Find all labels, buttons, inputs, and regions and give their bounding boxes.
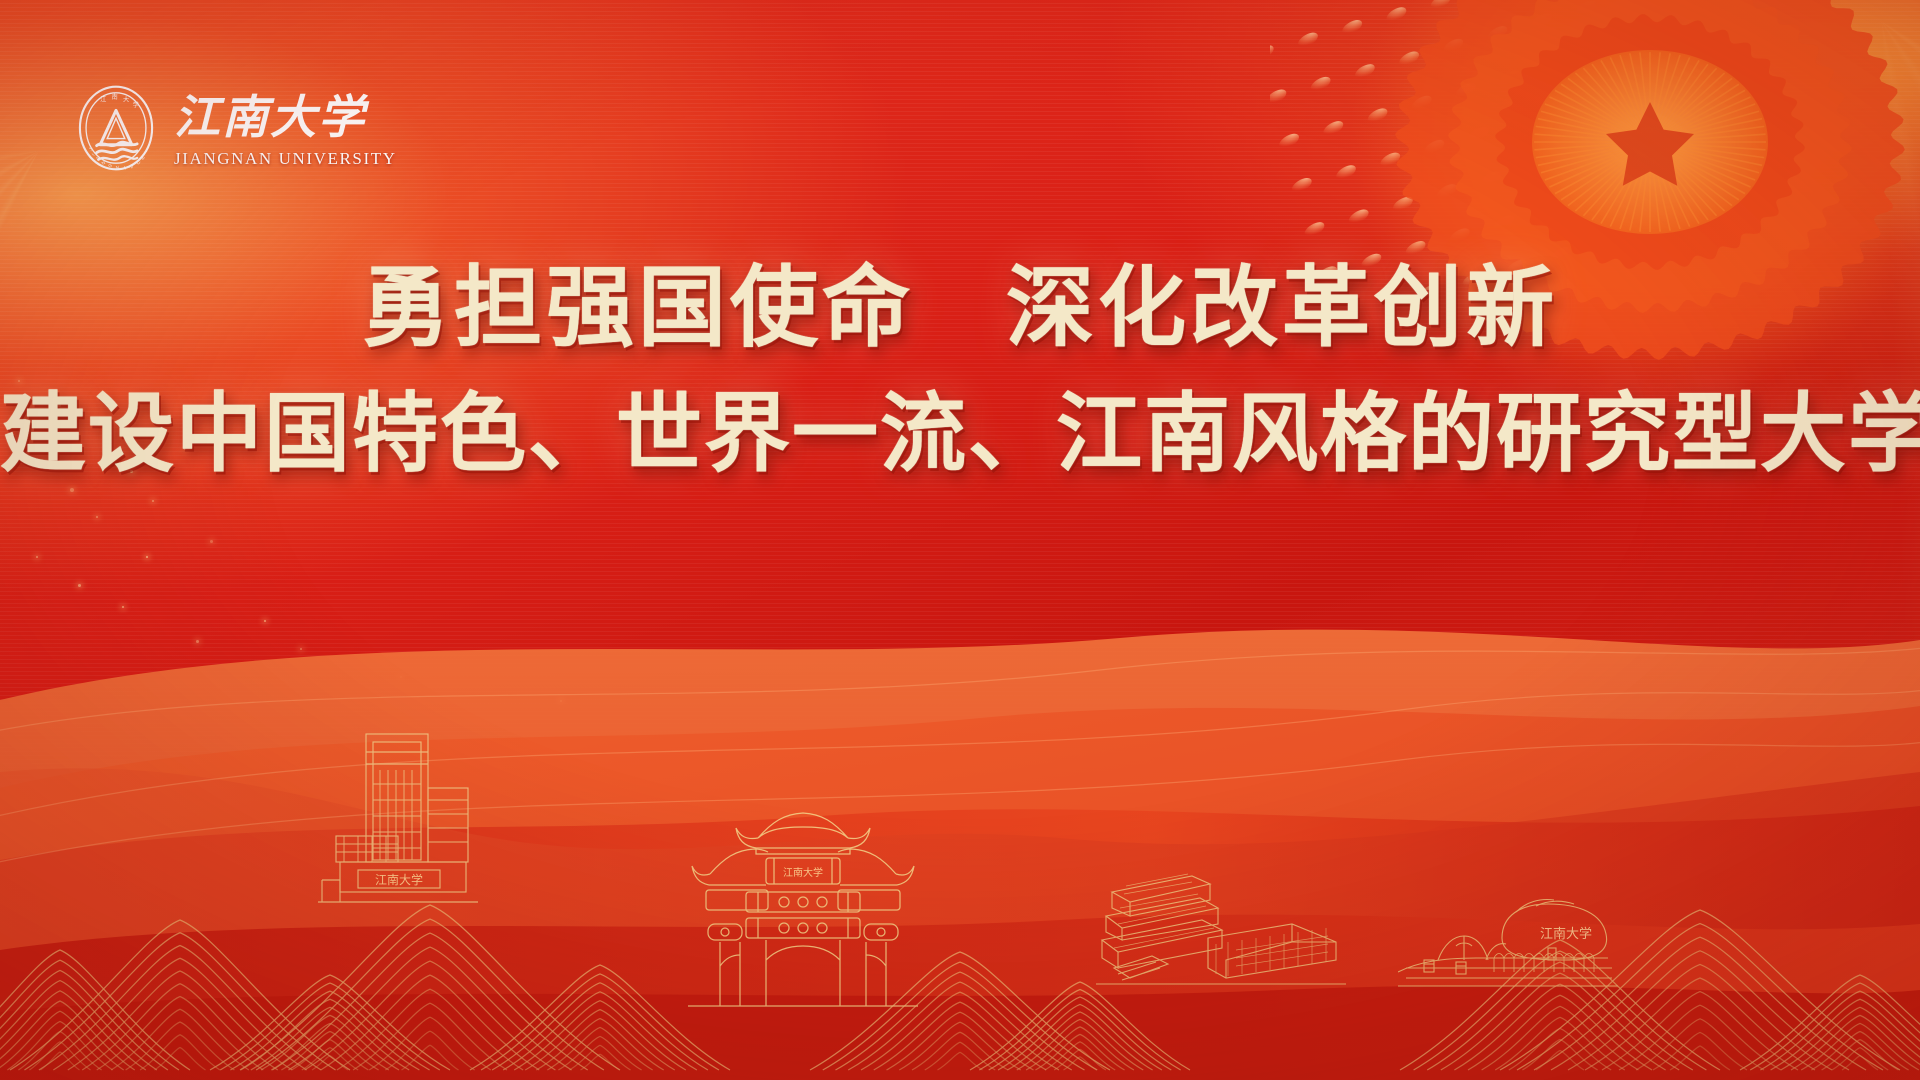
vignette-overlay <box>0 0 1920 1080</box>
banner-canvas: 江南大学 <box>0 0 1920 1080</box>
